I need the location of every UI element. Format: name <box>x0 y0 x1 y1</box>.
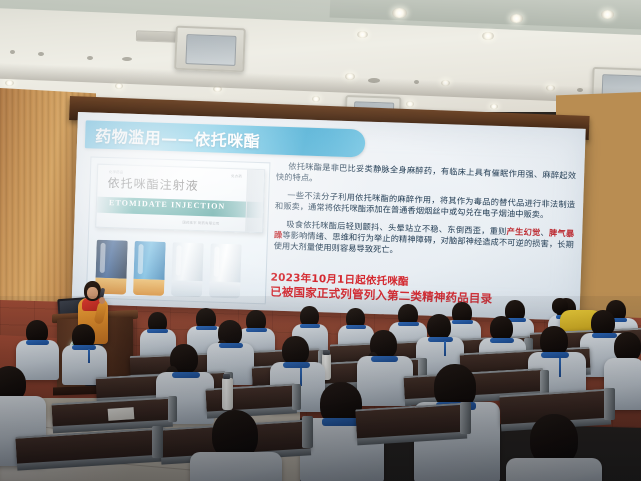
vial-liquid <box>133 279 165 296</box>
student-collar <box>452 320 473 324</box>
student-lanyard <box>444 341 446 356</box>
bottle-cap <box>223 374 230 379</box>
downlight <box>357 31 368 38</box>
vial-group <box>91 232 267 300</box>
ceiling-fitting <box>87 56 93 60</box>
student-collar <box>428 337 453 342</box>
student-collar <box>246 328 267 332</box>
box-tiny-text-bottom: 国药准字 制药有限公司 <box>182 220 219 226</box>
student-uniform <box>506 458 602 481</box>
student-collar <box>592 333 617 338</box>
downlight <box>490 104 498 109</box>
vial-gloss <box>100 243 106 273</box>
downlight <box>482 32 494 40</box>
student-collar <box>346 325 366 329</box>
student-collar <box>490 338 514 343</box>
downlight <box>5 80 14 86</box>
bottle-cap <box>323 350 330 355</box>
medicine-box: 化学药品 处方药 依托咪酯注射液 ETOMIDATE INJECTION 国药准… <box>95 164 265 234</box>
downlight <box>406 101 414 107</box>
slide-body-text: 依托咪酯是非巴比妥类静脉全身麻醉药，有临床上具有催眠作用强、麻醉起效快的特点。 … <box>273 161 576 269</box>
downlight <box>510 14 523 23</box>
student-lanyard <box>88 349 90 363</box>
vial-gloss <box>214 247 220 277</box>
ceiling-fitting <box>122 57 132 61</box>
seat-post <box>604 388 615 420</box>
ceiling-fitting <box>38 52 44 56</box>
student-collar <box>219 343 243 348</box>
slide-title-text: 药物滥用——依托咪酯 <box>85 122 261 152</box>
slide-paragraph-1: 依托咪酯是非巴比妥类静脉全身麻醉药，有临床上具有催眠作用强、麻醉起效快的特点。 <box>276 161 577 194</box>
seat-post <box>168 396 177 422</box>
downlight <box>312 96 320 102</box>
slide-paragraph-3: 吸食依托咪酯后轻则颤抖、头晕站立不稳、东倒西歪，重则产生幻觉、脾气暴躁等影响情绪… <box>273 218 574 262</box>
vial-liquid <box>171 280 203 297</box>
seat-row <box>355 403 467 440</box>
seat-post <box>460 402 471 434</box>
seat-post <box>292 384 301 410</box>
effects-highlight-1: 产生幻觉 <box>506 226 540 237</box>
projection-screen: 药物滥用——依托咪酯 化学药品 处方药 依托咪酯注射液 ETOMIDATE IN… <box>72 112 586 321</box>
student-collar <box>72 345 96 350</box>
air-conditioner-unit <box>174 26 246 73</box>
ceiling <box>0 0 641 112</box>
seat-post <box>152 426 163 458</box>
vial-gloss <box>176 245 182 275</box>
ac-grille <box>186 34 237 65</box>
vial-light-blue-icon <box>133 241 166 296</box>
student-collar <box>371 356 398 362</box>
student-lanyard <box>559 358 561 377</box>
student-collar <box>196 326 217 330</box>
medicine-box-cn-name: 依托咪酯注射液 <box>107 174 199 194</box>
effects-middle: 、 <box>540 227 549 237</box>
ceiling-panel-seam <box>136 30 178 42</box>
student-collar <box>283 362 310 368</box>
notebook <box>108 407 135 421</box>
box-tiny-text-right: 处方药 <box>231 173 242 178</box>
student-collar <box>172 372 200 378</box>
seat-post <box>302 416 313 448</box>
slide-title-banner: 药物滥用——依托咪酯 <box>85 120 366 157</box>
downlight <box>115 83 123 89</box>
downlight <box>601 10 614 19</box>
student-collar <box>147 329 168 333</box>
slide-product-image: 化学药品 处方药 依托咪酯注射液 ETOMIDATE INJECTION 国药准… <box>86 156 271 304</box>
downlight <box>392 8 407 18</box>
vial-gloss <box>138 244 144 274</box>
lecture-hall-photo: 药物滥用——依托咪酯 化学药品 处方药 依托咪酯注射液 ETOMIDATE IN… <box>0 0 641 481</box>
slide-paragraph-2: 一些不法分子利用依托咪酯的麻醉作用，将其作为毒品的替代品进行非法制造和贩卖，通常… <box>275 189 576 222</box>
seat-row <box>205 383 296 412</box>
student-uniform <box>190 452 282 481</box>
audience-area <box>0 296 641 481</box>
ceiling-fitting <box>10 50 15 54</box>
student-collar <box>398 322 419 326</box>
student-collar <box>26 340 49 345</box>
vial-clear-icon <box>171 242 204 297</box>
vial-clear-icon <box>209 243 242 298</box>
student-collar <box>300 324 320 328</box>
medicine-box-side <box>245 170 264 233</box>
student-head <box>282 336 309 365</box>
student-lanyard <box>300 368 302 386</box>
student-collar <box>541 352 569 358</box>
water-bottle <box>222 378 233 410</box>
